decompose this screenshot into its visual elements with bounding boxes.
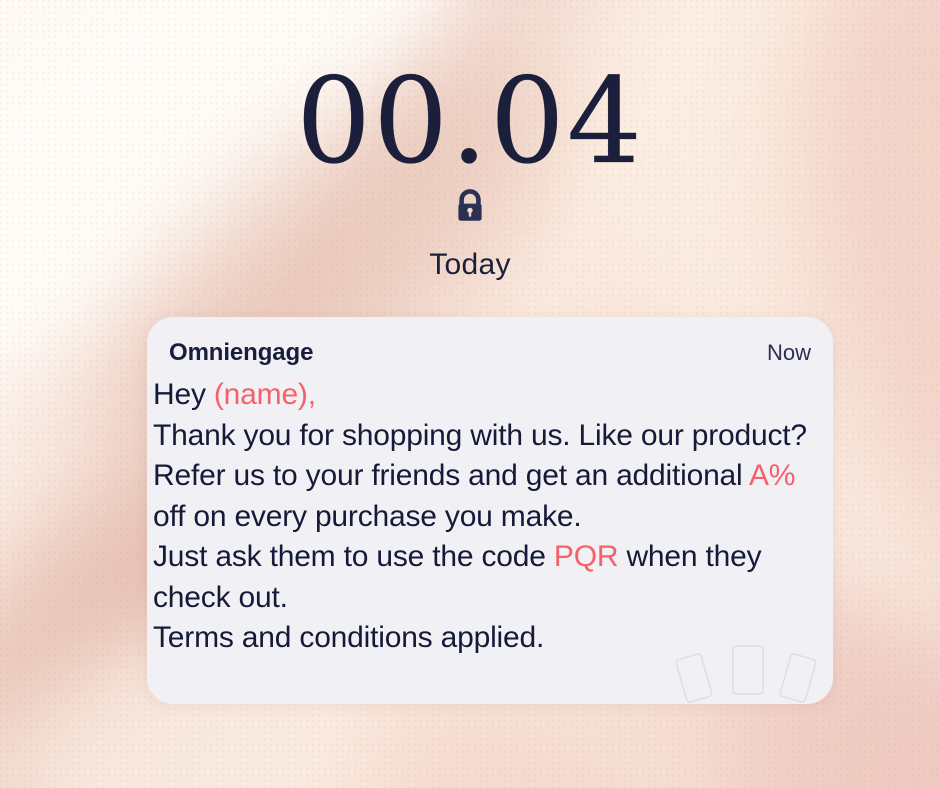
lockscreen-screen: 00.04 Today Omniengage Now Hey (name),Th…: [0, 0, 940, 788]
notification-header: Omniengage Now: [169, 339, 811, 367]
notification-line-referral-offer: Refer us to your friends and get an addi…: [153, 456, 823, 537]
notification-plain-text: Thank you for shopping with us. Like our…: [153, 419, 807, 452]
lockscreen-clock: 00.04: [0, 62, 940, 180]
notification-plain-text: Just ask them to use the code: [153, 540, 554, 573]
padlock-locked-icon: [448, 186, 492, 230]
notification-line-terms: Terms and conditions applied.: [153, 618, 823, 659]
notification-message-body: Hey (name),Thank you for shopping with u…: [153, 375, 823, 659]
notification-plain-text: off on every purchase you make.: [153, 500, 582, 533]
notification-plain-text: Hey: [153, 378, 214, 411]
notification-line-promo-code: Just ask them to use the code PQR when t…: [153, 537, 823, 618]
notification-plain-text: Refer us to your friends and get an addi…: [153, 459, 749, 492]
notification-highlight-text: PQR: [554, 540, 618, 573]
notification-app-name: Omniengage: [169, 339, 313, 367]
notification-line-thanks: Thank you for shopping with us. Like our…: [153, 416, 823, 457]
notification-line-greeting: Hey (name),: [153, 375, 823, 416]
notification-card[interactable]: Omniengage Now Hey (name),Thank you for …: [147, 317, 833, 704]
notification-highlight-text: A%: [749, 459, 795, 492]
today-label: Today: [0, 248, 940, 282]
notification-plain-text: Terms and conditions applied.: [153, 621, 544, 654]
lock-status-area: [0, 186, 940, 230]
notification-highlight-text: (name),: [214, 378, 316, 411]
notification-timestamp: Now: [767, 340, 811, 366]
